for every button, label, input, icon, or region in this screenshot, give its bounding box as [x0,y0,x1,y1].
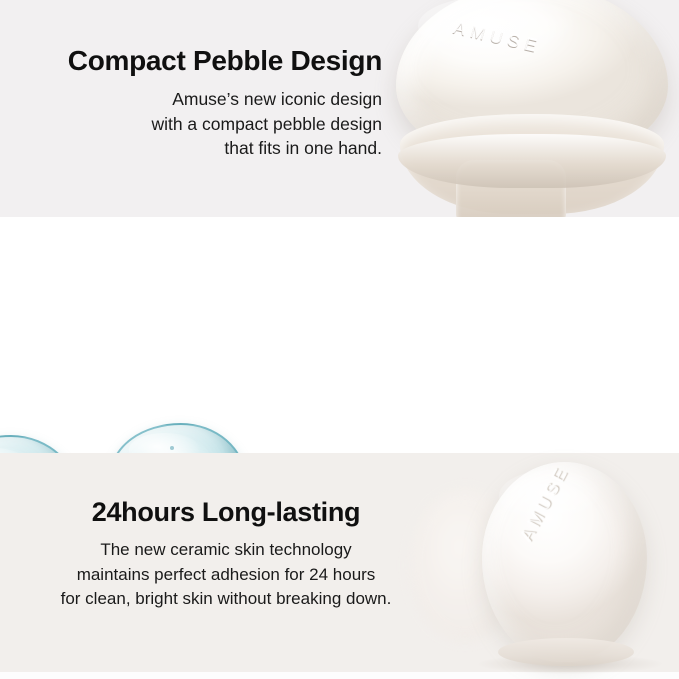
panel-3-body-line-1: The new ceramic skin technology [0,538,452,563]
panel-1-body: Amuse’s new iconic design with a compact… [0,87,382,161]
gel-speck [170,446,174,450]
gel-droplet-top [110,423,246,453]
panel-3-body: The new ceramic skin technology maintain… [0,538,452,612]
panel-1-text-block: Compact Pebble Design Amuse’s new iconic… [0,44,382,161]
product-image-compact-pebble: AMUSE [396,0,679,217]
panel-3-body-line-3: for clean, bright skin without breaking … [0,587,452,612]
panel-1-body-line-1: Amuse’s new iconic design [0,87,382,112]
panel-compact-pebble-design: AMUSE Compact Pebble Design Amuse’s new … [0,0,679,217]
pebble-body [482,462,647,662]
panel-1-body-line-2: with a compact pebble design [0,112,382,137]
product-detail-page: AMUSE Compact Pebble Design Amuse’s new … [0,0,679,679]
panel-semi-matte: Semi-matte, But never heavy or cakey 76%… [0,217,679,453]
panel-3-text-block: 24hours Long-lasting The new ceramic ski… [0,496,452,612]
pebble-base [498,638,634,666]
panel-3-body-line-2: maintains perfect adhesion for 24 hours [0,563,452,588]
compact-rim [398,134,666,188]
panel-3-heading: 24hours Long-lasting [0,496,452,529]
panel-1-body-line-3: that fits in one hand. [0,136,382,161]
gel-droplet-left-upper [0,435,82,453]
panel-1-heading: Compact Pebble Design [0,44,382,78]
product-image-standing-pebble: AMUSE [452,462,679,672]
